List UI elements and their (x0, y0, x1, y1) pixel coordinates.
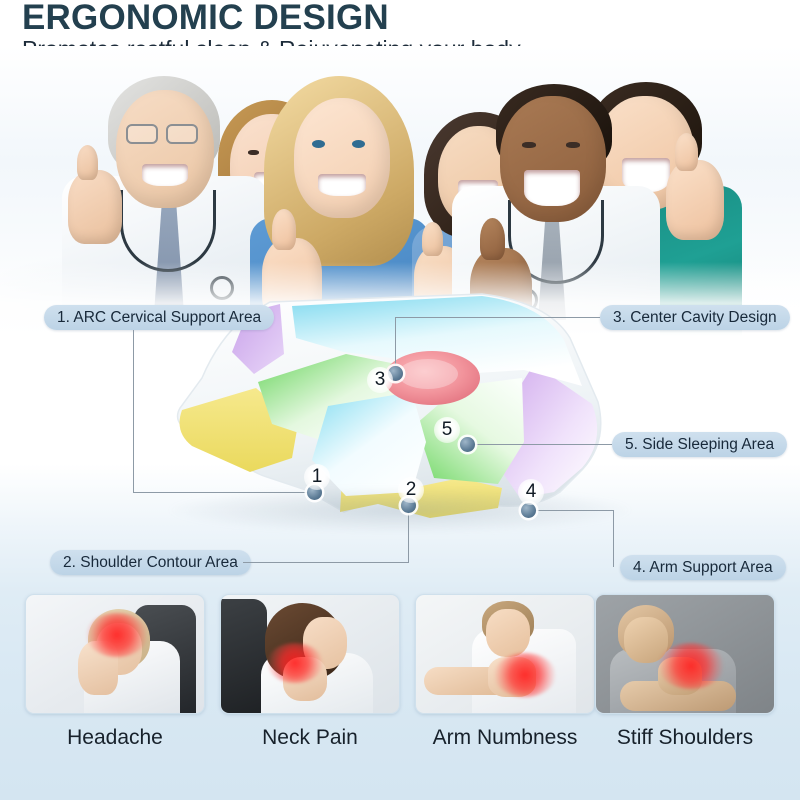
callout-leader-1-vertical (133, 330, 134, 493)
callout-leader-4-horizontal (528, 510, 614, 511)
callout-label-1[interactable]: 1. ARC Cervical Support Area (44, 305, 274, 330)
eye-right (566, 142, 580, 148)
callout-number-5: 5 (434, 417, 460, 443)
mouth-smiling (142, 164, 188, 186)
pain-caption-headache: Headache (25, 726, 205, 750)
pain-tile-headache[interactable]: Headache (25, 594, 205, 714)
infographic-page: ERGONOMIC DESIGN Promotes restful sleep … (0, 0, 800, 800)
eyeglasses-right-lens (166, 124, 198, 144)
mouth-smiling (318, 174, 366, 196)
pain-caption-arm-numbness: Arm Numbness (415, 726, 595, 750)
pain-caption-stiff-shoulders: Stiff Shoulders (595, 726, 775, 750)
callout-leader-1-horizontal (133, 492, 314, 493)
pain-photo-arm-numbness (415, 594, 595, 714)
eye-right (352, 140, 365, 148)
callout-number-2: 2 (398, 477, 424, 503)
pain-photo-headache (25, 594, 205, 714)
thumbs-up-hand (666, 160, 724, 240)
pain-points-row: Headache Neck Pain A (0, 594, 800, 800)
eye-left (312, 140, 325, 148)
pain-tile-arm-numbness[interactable]: Arm Numbness (415, 594, 595, 714)
callout-marker-dot-5[interactable] (460, 437, 475, 452)
thumbs-up-hand (68, 170, 122, 244)
pain-photo-neck-pain (220, 594, 400, 714)
callout-label-4[interactable]: 4. Arm Support Area (620, 555, 786, 580)
callout-number-3: 3 (367, 367, 393, 393)
pain-glow-forehead (86, 613, 148, 657)
pain-glow-neck (267, 643, 323, 683)
callout-leader-2-vertical (408, 505, 409, 563)
callout-leader-3-vertical (395, 317, 396, 369)
callout-label-2[interactable]: 2. Shoulder Contour Area (50, 550, 251, 575)
callout-label-3[interactable]: 3. Center Cavity Design (600, 305, 790, 330)
callout-leader-2-horizontal (243, 562, 409, 563)
callout-label-5[interactable]: 5. Side Sleeping Area (612, 432, 787, 457)
pain-tile-neck-pain[interactable]: Neck Pain (220, 594, 400, 714)
face (486, 609, 530, 657)
center-cavity-inner-highlight (398, 359, 458, 389)
callout-leader-3-horizontal (395, 317, 600, 318)
callout-number-1: 1 (304, 464, 330, 490)
pain-glow-shoulder (658, 643, 724, 689)
pain-glow-upper-arm (494, 653, 556, 697)
mouth-laughing (524, 170, 580, 206)
pain-photo-stiff-shoulders (595, 594, 775, 714)
callout-number-4: 4 (518, 479, 544, 505)
page-title: ERGONOMIC DESIGN (22, 0, 389, 38)
callout-leader-4-vertical (613, 510, 614, 567)
pain-caption-neck-pain: Neck Pain (220, 726, 400, 750)
pain-tile-stiff-shoulders[interactable]: Stiff Shoulders (595, 594, 775, 714)
eyeglasses-left-lens (126, 124, 158, 144)
face (116, 90, 214, 208)
eye-left (522, 142, 536, 148)
face (294, 98, 390, 218)
callout-leader-5-horizontal (473, 444, 612, 445)
callout-marker-dot-4[interactable] (521, 503, 536, 518)
